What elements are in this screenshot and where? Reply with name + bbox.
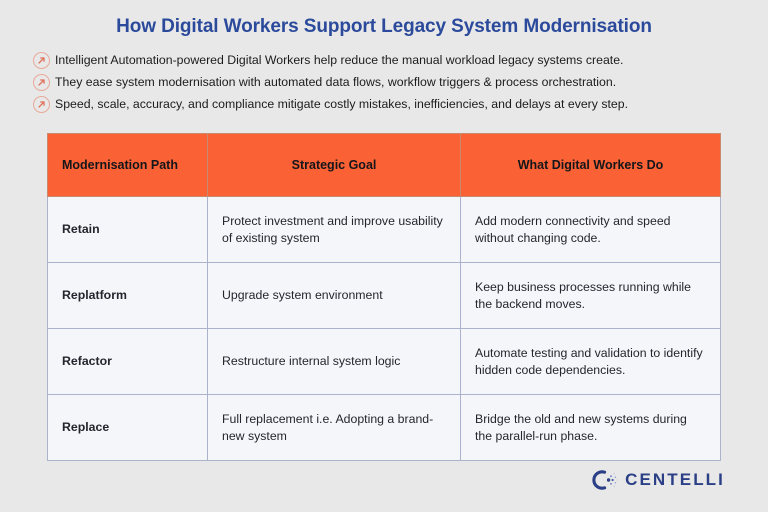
page-title: How Digital Workers Support Legacy Syste… [0, 16, 768, 38]
cell-what-digital-workers-do: Add modern connectivity and speed withou… [461, 197, 721, 263]
cell-modernisation-path: Retain [48, 197, 208, 263]
list-item: Speed, scale, accuracy, and compliance m… [33, 96, 739, 113]
cell-modernisation-path: Refactor [48, 329, 208, 395]
cell-modernisation-path: Replace [48, 395, 208, 461]
arrow-up-right-circle-icon [33, 74, 50, 91]
centelli-c-dots-logomark [591, 468, 621, 492]
table-row: Refactor Restructure internal system log… [48, 329, 721, 395]
table-row: Replatform Upgrade system environment Ke… [48, 263, 721, 329]
cell-strategic-goal: Protect investment and improve usability… [208, 197, 461, 263]
modernisation-table: Modernisation Path Strategic Goal What D… [47, 133, 721, 461]
list-item-label: Speed, scale, accuracy, and compliance m… [55, 96, 628, 113]
list-item: Intelligent Automation-powered Digital W… [33, 52, 739, 69]
list-item-label: Intelligent Automation-powered Digital W… [55, 52, 623, 69]
table-header-row: Modernisation Path Strategic Goal What D… [48, 134, 721, 197]
arrow-up-right-circle-icon [33, 52, 50, 69]
bullet-list: Intelligent Automation-powered Digital W… [33, 52, 739, 118]
infographic-page: How Digital Workers Support Legacy Syste… [0, 0, 768, 512]
cell-what-digital-workers-do: Keep business processes running while th… [461, 263, 721, 329]
cell-modernisation-path: Replatform [48, 263, 208, 329]
list-item: They ease system modernisation with auto… [33, 74, 739, 91]
cell-strategic-goal: Full replacement i.e. Adopting a brand-n… [208, 395, 461, 461]
modernisation-table-wrapper: Modernisation Path Strategic Goal What D… [47, 133, 720, 461]
table-row: Retain Protect investment and improve us… [48, 197, 721, 263]
cell-strategic-goal: Restructure internal system logic [208, 329, 461, 395]
cell-strategic-goal: Upgrade system environment [208, 263, 461, 329]
centelli-logo: CENTELLI [591, 467, 725, 493]
table-header: Modernisation Path Strategic Goal What D… [48, 134, 721, 197]
list-item-label: They ease system modernisation with auto… [55, 74, 616, 91]
arrow-up-right-circle-icon [33, 96, 50, 113]
table-row: Replace Full replacement i.e. Adopting a… [48, 395, 721, 461]
cell-what-digital-workers-do: Automate testing and validation to ident… [461, 329, 721, 395]
column-header-strategic-goal: Strategic Goal [208, 134, 461, 197]
centelli-wordmark: CENTELLI [625, 470, 725, 490]
table-body: Retain Protect investment and improve us… [48, 197, 721, 461]
cell-what-digital-workers-do: Bridge the old and new systems during th… [461, 395, 721, 461]
column-header-modernisation-path: Modernisation Path [48, 134, 208, 197]
column-header-what-digital-workers-do: What Digital Workers Do [461, 134, 721, 197]
